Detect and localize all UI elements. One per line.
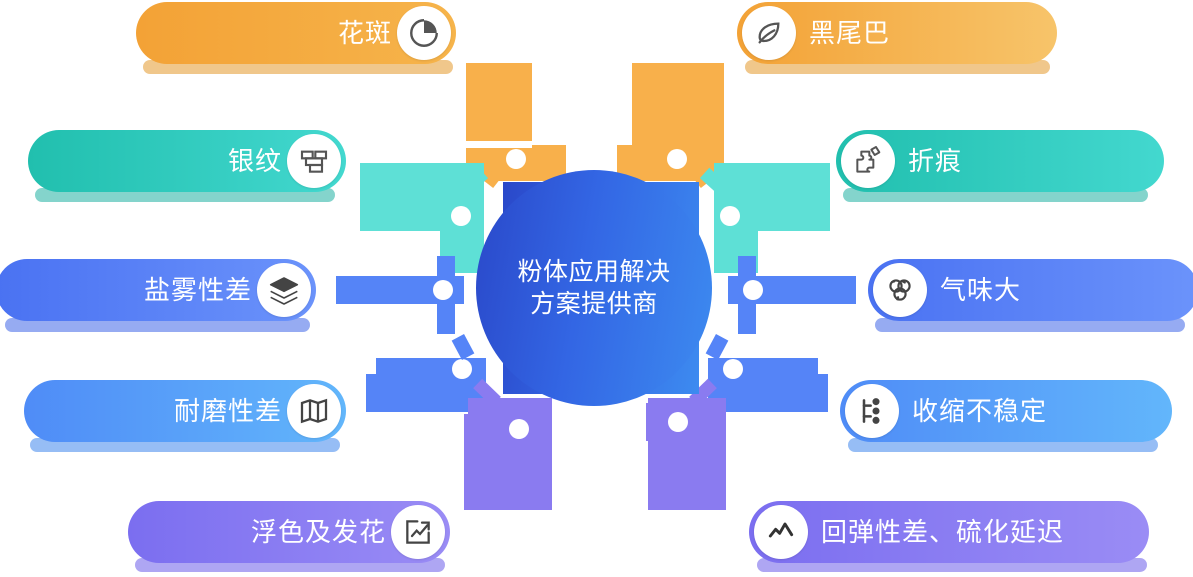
center-title: 粉体应用解决 方案提供商: [517, 256, 670, 320]
center-title-line2: 方案提供商: [517, 288, 670, 320]
item-label: 收缩不稳定: [912, 398, 1047, 424]
item-label: 银纹: [228, 148, 282, 174]
item-pill-left-3[interactable]: 耐磨性差: [24, 380, 346, 442]
item-pill-left-1[interactable]: 银纹: [28, 130, 346, 192]
brick-wall-icon: [287, 134, 341, 188]
puzzle-icon: [841, 134, 895, 188]
connector-dot: [451, 206, 471, 226]
connector-dot: [506, 149, 526, 169]
connector-arrow: [706, 334, 729, 360]
item-label: 折痕: [908, 148, 962, 174]
infographic-canvas: 粉体应用解决 方案提供商 花斑 银纹 盐雾性差: [0, 0, 1193, 577]
chart-arrow-icon: [391, 505, 445, 559]
connector-dot: [452, 359, 472, 379]
connector-dot: [509, 419, 529, 439]
pie-chart-icon: [397, 6, 451, 60]
item-label: 回弹性差、硫化延迟: [821, 519, 1064, 545]
item-pill-left-2[interactable]: 盐雾性差: [0, 259, 316, 321]
item-pill-right-2[interactable]: 气味大: [868, 259, 1193, 321]
center-node: 粉体应用解决 方案提供商: [476, 170, 712, 406]
item-label: 气味大: [940, 277, 1021, 303]
sitemap-icon: [845, 384, 899, 438]
connector-bar: [466, 141, 532, 148]
connector-dot: [720, 206, 740, 226]
item-label: 耐磨性差: [174, 398, 282, 424]
recycle-icon: [873, 263, 927, 317]
item-pill-right-0[interactable]: 黑尾巴: [737, 2, 1057, 64]
leaf-icon: [742, 6, 796, 60]
item-pill-left-4[interactable]: 浮色及发花: [128, 501, 450, 563]
item-pill-left-0[interactable]: 花斑: [136, 2, 456, 64]
connector-bar: [708, 374, 828, 412]
layers-icon: [257, 263, 311, 317]
book-map-icon: [287, 384, 341, 438]
line-chart-icon: [754, 505, 808, 559]
item-pill-right-1[interactable]: 折痕: [836, 130, 1164, 192]
item-pill-right-3[interactable]: 收缩不稳定: [840, 380, 1172, 442]
connector-dot: [723, 359, 743, 379]
center-title-line1: 粉体应用解决: [517, 256, 670, 288]
connector-dot: [743, 280, 763, 300]
connector-dot: [433, 280, 453, 300]
item-pill-right-4[interactable]: 回弹性差、硫化延迟: [749, 501, 1149, 563]
item-label: 黑尾巴: [809, 20, 890, 46]
item-label: 花斑: [338, 20, 392, 46]
connector-dot: [667, 149, 687, 169]
item-label: 浮色及发花: [251, 519, 386, 545]
connector-dot: [668, 412, 688, 432]
item-label: 盐雾性差: [144, 277, 252, 303]
connector-arrow: [452, 334, 475, 360]
